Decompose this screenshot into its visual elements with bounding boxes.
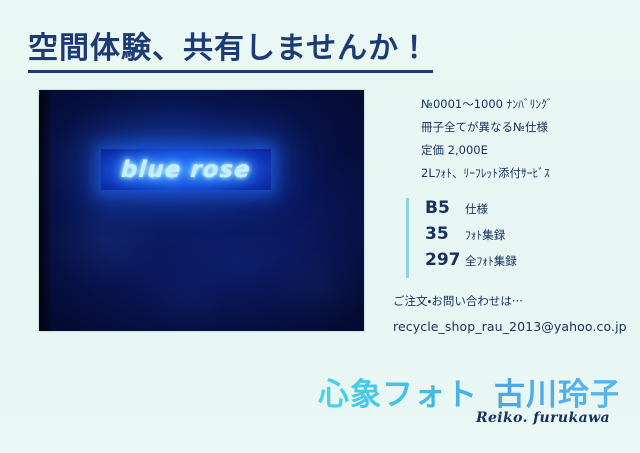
contact-email[interactable]: recycle_shop_rau_2013@yahoo.co.jp bbox=[393, 319, 633, 334]
title-underline bbox=[28, 70, 433, 73]
figure-value: 297 bbox=[425, 250, 465, 270]
spec-line: №0001〜1000 ﾅﾝﾊﾞﾘﾝｸﾞ bbox=[421, 98, 621, 111]
spec-list: №0001〜1000 ﾅﾝﾊﾞﾘﾝｸﾞ 冊子全てが異なる№仕様 定価 2,000… bbox=[421, 98, 621, 190]
figure-list: B5 仕様 35 ﾌｫﾄ集録 297 全ﾌｫﾄ集録 bbox=[406, 198, 517, 278]
figure-label: ﾌｫﾄ集録 bbox=[465, 227, 505, 243]
page-title-text: 空間体験、共有しませんか！ bbox=[28, 30, 448, 68]
contact-block: ご注文・お問い合わせは··· recycle_shop_rau_2013@yah… bbox=[393, 294, 633, 334]
signature-block: 心象フォト古川玲子 Reiko. furukawa bbox=[318, 378, 618, 438]
signature-brand: 心象フォト bbox=[318, 377, 478, 413]
figure-row: 35 ﾌｫﾄ集録 bbox=[425, 224, 517, 250]
contact-heading: ご注文・お問い合わせは··· bbox=[393, 294, 633, 308]
signature-main: 心象フォト古川玲子 bbox=[318, 378, 618, 412]
page-title: 空間体験、共有しませんか！ bbox=[28, 30, 448, 73]
photo-vignette bbox=[39, 90, 364, 331]
figure-label: 仕様 bbox=[465, 201, 488, 217]
figure-row: 297 全ﾌｫﾄ集録 bbox=[425, 250, 517, 276]
figure-value: B5 bbox=[425, 198, 465, 218]
figure-row: B5 仕様 bbox=[425, 198, 517, 224]
spec-line: 2Lﾌｫﾄ、ﾘｰﾌﾚｯﾄ添付ｻｰﾋﾞｽ bbox=[421, 167, 621, 180]
photo-blue-rose: blue rose bbox=[38, 89, 365, 332]
signature-name: 古川玲子 bbox=[494, 377, 622, 413]
spec-line: 冊子全てが異なる№仕様 bbox=[421, 121, 621, 134]
flyer-page: 空間体験、共有しませんか！ blue rose №0001〜1000 ﾅﾝﾊﾞﾘ… bbox=[0, 0, 640, 453]
figure-value: 35 bbox=[425, 224, 465, 244]
spec-line: 定価 2,000E bbox=[421, 144, 621, 157]
figure-label: 全ﾌｫﾄ集録 bbox=[465, 253, 517, 269]
